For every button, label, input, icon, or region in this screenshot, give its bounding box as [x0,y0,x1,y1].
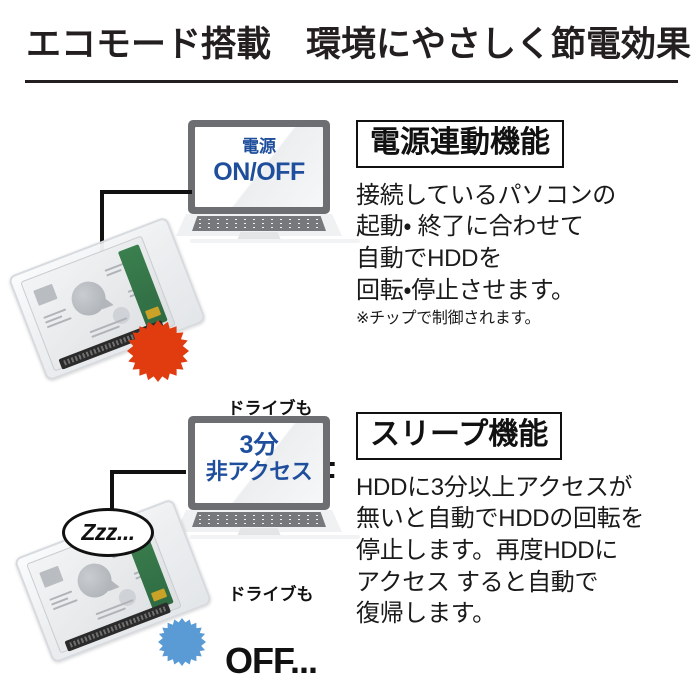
laptop-screen: 電源 ON/OFF [195,127,323,207]
section-body-sleep: HDDに3分以上アクセスが 無いと自動でHDDの回転を 停止します。再度HDDに… [356,472,686,630]
text-column-sleep: スリープ機能 HDDに3分以上アクセスが 無いと自動でHDDの回転を 停止します… [356,412,686,630]
drive-status-caption-sleep: ドライブも OFF... [196,548,346,699]
section-note-power: ※チップで制御されます。 [356,309,686,330]
laptop-lid: 電源 ON/OFF [188,120,330,214]
laptop-base-shadow [190,535,360,539]
page-title: エコモード搭載 環境にやさしく節電効果 [26,27,691,62]
title-underline-rule [25,80,678,83]
screen-label-line1: 電源 [195,138,323,155]
hdd-label-box [39,566,63,588]
screen-label-line2: 非アクセス [195,461,323,483]
laptop-lid: 3分 非アクセス [188,416,330,510]
screen-label-line2: ON/OFF [195,160,323,186]
section-body-power: 接続しているパソコンの 起動・ 終了に合わせて 自動でHDDを 回転・停止させま… [356,180,686,307]
drive-caption-small: ドライブも [196,584,346,605]
hdd-label-box [33,284,57,306]
laptop-illustration-sleep: 3分 非アクセス [176,416,342,538]
laptop-base-shadow [190,239,360,243]
laptop-keys [192,512,326,527]
section-heading-sleep: スリープ機能 [356,412,562,460]
connector-horizontal [110,470,186,474]
text-column-power: 電源連動機能 接続しているパソコンの 起動・ 終了に合わせて 自動でHDDを 回… [356,120,686,330]
screen-label-line1: 3分 [195,433,323,459]
laptop-keys [192,216,326,231]
connector-horizontal [100,190,192,194]
laptop-screen: 3分 非アクセス [195,423,323,503]
sleep-bubble-label: Zzz... [65,511,151,554]
drive-caption-big: OFF... [196,641,346,681]
laptop-illustration-power: 電源 ON/OFF [176,120,342,242]
page-title-block: エコモード搭載 環境にやさしく節電効果 [0,0,700,92]
section-heading-power: 電源連動機能 [356,120,564,168]
sleep-speech-bubble: Zzz... [62,508,154,557]
